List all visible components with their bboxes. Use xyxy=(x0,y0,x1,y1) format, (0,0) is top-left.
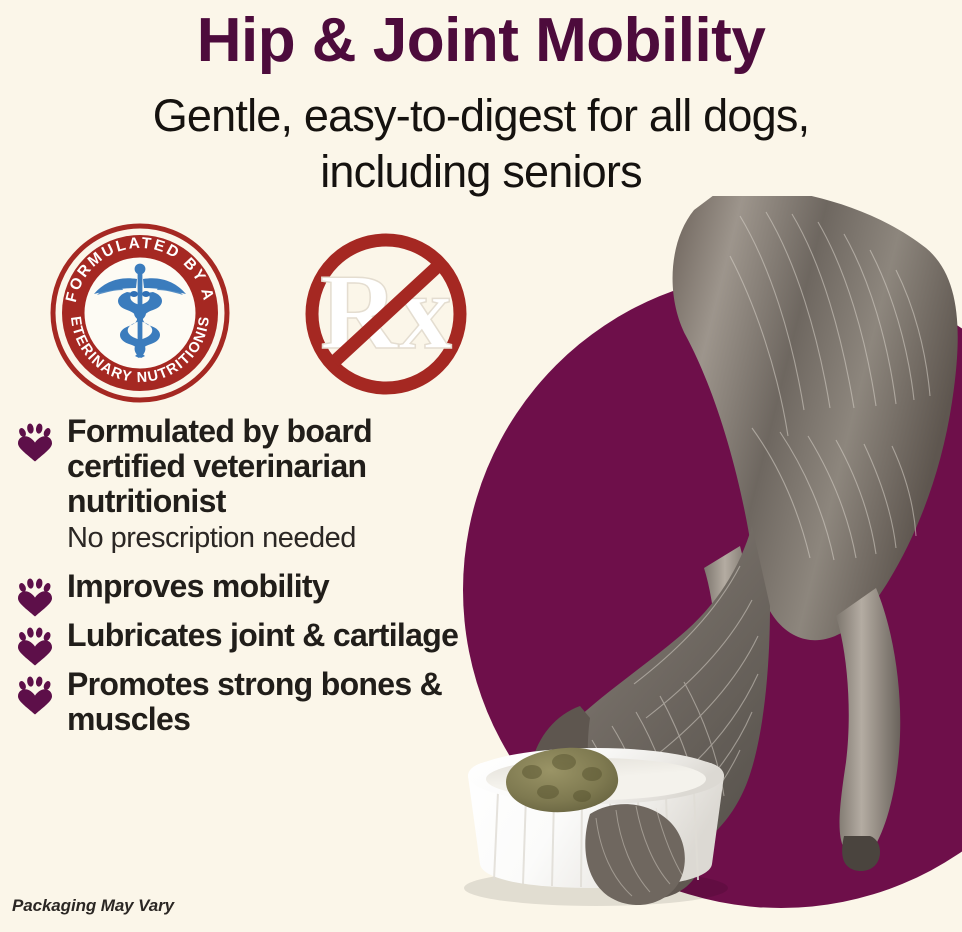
vet-nutritionist-seal: FORMULATED BY A VETERINARY NUTRITIONIST xyxy=(49,222,231,404)
paw-heart-icon xyxy=(14,626,56,668)
packaging-disclaimer: Packaging May Vary xyxy=(12,896,174,916)
no-prescription-badge: Rx xyxy=(302,230,470,398)
paw-heart-icon xyxy=(14,675,56,717)
page-title: Hip & Joint Mobility xyxy=(0,4,962,78)
list-item: Promotes strong bones & muscles xyxy=(10,667,462,737)
list-item: Improves mobility xyxy=(10,569,462,604)
badge-row: FORMULATED BY A VETERINARY NUTRITIONIST … xyxy=(44,222,444,402)
paw-heart-icon xyxy=(14,577,56,619)
benefit-title: Improves mobility xyxy=(67,569,462,604)
list-item: Formulated by board certified veterinari… xyxy=(10,414,462,555)
hero-circle-backdrop xyxy=(463,272,962,908)
page-subtitle-line-1: Gentle, easy-to-digest for all dogs, xyxy=(24,88,938,144)
page-subtitle: Gentle, easy-to-digest for all dogs, inc… xyxy=(24,88,938,200)
paw-heart-icon xyxy=(14,422,56,464)
page-subtitle-line-2: including seniors xyxy=(24,144,938,200)
benefit-subtext: No prescription needed xyxy=(67,521,462,555)
benefit-title: Lubricates joint & cartilage xyxy=(67,618,462,653)
list-item: Lubricates joint & cartilage xyxy=(10,618,462,653)
benefit-title: Promotes strong bones & muscles xyxy=(67,667,462,737)
benefit-title: Formulated by board certified veterinari… xyxy=(67,414,462,519)
benefits-list: Formulated by board certified veterinari… xyxy=(10,414,462,751)
product-feature-image: Hip & Joint Mobility Gentle, easy-to-dig… xyxy=(0,0,962,932)
